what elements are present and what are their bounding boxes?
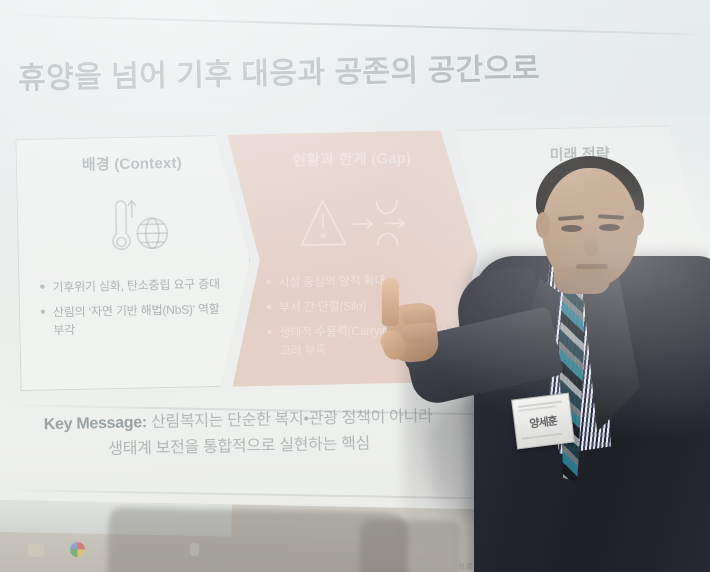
nose [584, 232, 598, 256]
bullet-dot [266, 280, 270, 284]
chin-shadow [554, 266, 626, 288]
file-explorer-icon[interactable] [28, 544, 44, 557]
pointing-hand-icon [373, 273, 448, 371]
bullet-text: 산림의 ‘자연 기반 해법(NbS)’ 역할 부각 [53, 302, 220, 337]
bullet-dot [41, 310, 45, 314]
screenshot-root: 휴양을 넘어 기후 대응과 공존의 공간으로 배경 (Context) [0, 0, 710, 572]
presenter: 양세훈 [386, 146, 710, 572]
slide-title: 휴양을 넘어 기후 대응과 공존의 공간으로 [18, 43, 579, 98]
panel-context: 배경 (Context) [15, 134, 252, 391]
bullet-dot [40, 285, 44, 289]
eye-left [561, 225, 582, 232]
thermometer-globe-icon [16, 182, 250, 275]
badge-name-text: 양세훈 [514, 411, 572, 434]
ear-left [536, 212, 550, 238]
name-badge: 양세훈 [511, 393, 575, 450]
ear-right [630, 210, 644, 236]
key-message-label: Key Message: [44, 414, 147, 433]
bullet-dot [267, 330, 271, 334]
mouth [576, 264, 608, 269]
bullet-dot [267, 305, 271, 309]
bullet-text: 시설 중심의 양적 확대 [278, 273, 385, 289]
panel-context-bullets: 기후위기 심화, 탄소중립 요구 증대 산림의 ‘자연 기반 해법(NbS)’ … [18, 274, 251, 347]
bullet-text: 부서 간 단절(Silo) [279, 299, 367, 315]
index-finger [382, 278, 399, 326]
bullet-item: 기후위기 심화, 탄소중립 요구 증대 [52, 275, 230, 297]
bullet-item: 산림의 ‘자연 기반 해법(NbS)’ 역할 부각 [53, 300, 232, 340]
app-icon[interactable] [190, 543, 199, 556]
eye-right [599, 224, 620, 231]
badge-line [522, 433, 562, 440]
bullet-text: 기후위기 심화, 탄소중립 요구 증대 [52, 277, 220, 295]
